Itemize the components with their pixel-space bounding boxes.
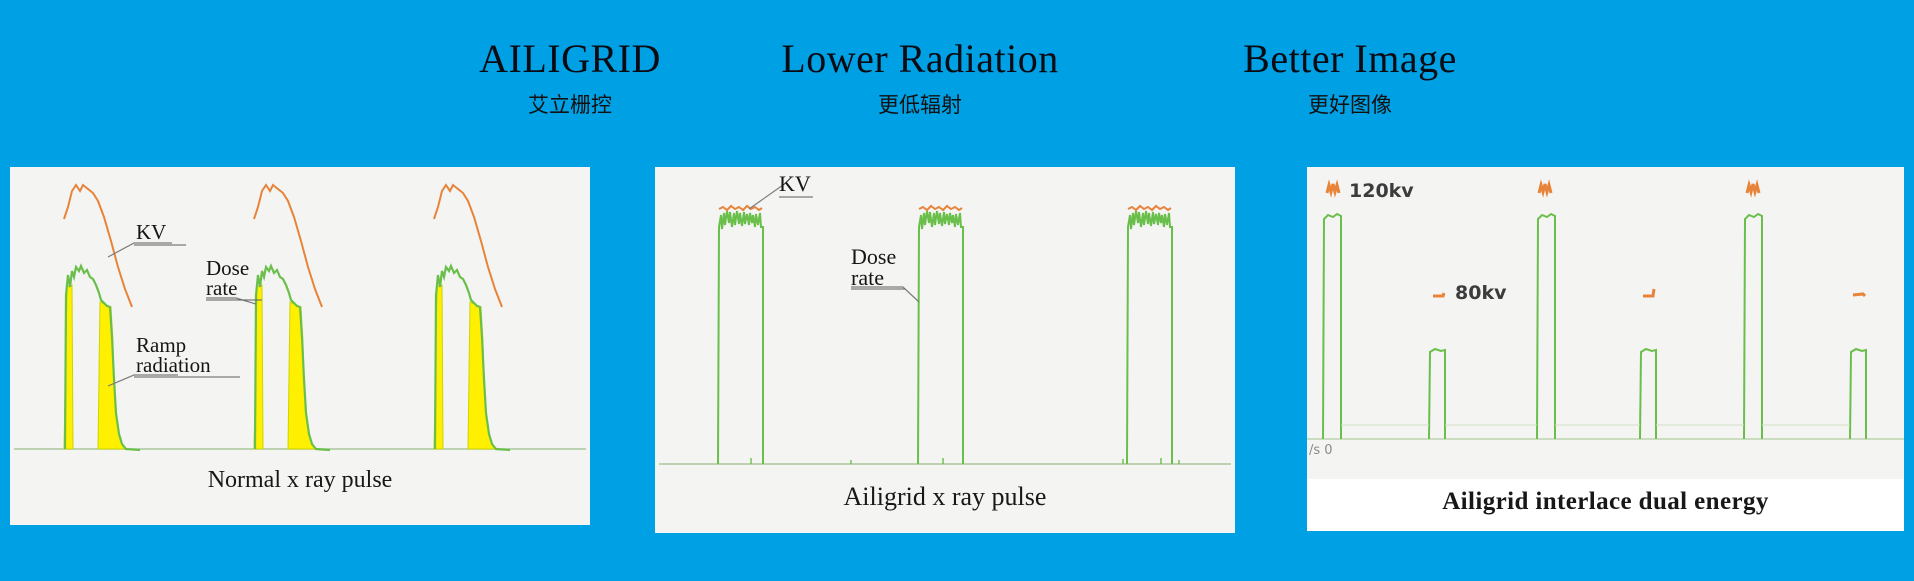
dose-rate-pulse-120kv: [1537, 214, 1555, 439]
axis-zero-label: /s 0: [1309, 443, 1333, 458]
dose-rate-pulse-120kv: [1323, 214, 1341, 439]
legend-label-80kv: 80kv: [1455, 282, 1506, 304]
header-title-en: Better Image: [1070, 36, 1630, 82]
dose-rate-pulse-120kv: [1744, 214, 1762, 439]
annotation-kv: KV: [108, 220, 186, 257]
kv-marker-high-icon: [1747, 184, 1759, 193]
chart-panel-normal-x-ray-pulse: KV Dose rate Ramp radiation Normal x ray…: [10, 167, 590, 525]
chart-panel-interlace-dual-energy: 120kv 80kv /s 0 Ailigrid interlace dual …: [1307, 167, 1904, 531]
annotation-kv: KV: [749, 171, 813, 209]
baseline-ticks: [751, 458, 1179, 464]
kv-trace: [919, 206, 962, 210]
dose-rate-pulse-80kv: [1429, 349, 1445, 439]
kv-trace: [1128, 206, 1171, 210]
header-title-cn: 更好图像: [1070, 90, 1630, 120]
panel-caption-ailigrid: Ailigrid x ray pulse: [655, 482, 1235, 512]
kv-marker-low-icon: [1433, 293, 1444, 296]
chart-panel-ailigrid-x-ray-pulse: KV Dose rate Ailigrid x ray pulse: [655, 167, 1235, 533]
dose-rate-trace: [1127, 211, 1172, 464]
annotation-ramp-radiation: Ramp radiation: [108, 333, 240, 386]
header-block-better-image: Better Image 更好图像: [1070, 36, 1630, 120]
dual-energy-plot: [1307, 167, 1904, 479]
dose-rate-pulse-80kv: [1640, 349, 1656, 439]
annotation-label-dose-line2: rate: [206, 276, 237, 300]
annotation-label-kv: KV: [136, 220, 166, 244]
pulse-group-1: [718, 206, 763, 464]
annotation-dose-rate: Dose rate: [206, 256, 262, 304]
panel-caption-normal: Normal x ray pulse: [10, 467, 590, 494]
kv-marker-high-icon: [1539, 184, 1551, 193]
header-banner: AILIGRID 艾立栅控 Lower Radiation 更低辐射 Bette…: [0, 0, 1914, 160]
pulse-group-2: [254, 185, 330, 450]
annotation-leader-line: [749, 185, 783, 209]
annotation-dose-rate: Dose rate: [851, 244, 919, 302]
pulse-group-3: [434, 185, 510, 450]
ailigrid-pulse-plot: KV Dose rate: [655, 167, 1235, 482]
kv-marker-low-icon: [1853, 294, 1865, 296]
kv-trace: [719, 206, 762, 210]
dose-rate-pulse-80kv: [1850, 349, 1866, 439]
pulse-120kv-group: [1323, 214, 1762, 439]
legend-label-120kv: 120kv: [1349, 180, 1414, 202]
annotation-label-dose-line2: rate: [851, 265, 884, 290]
panel-caption-dual-energy: Ailigrid interlace dual energy: [1307, 479, 1904, 531]
kv-marker-high-icon: [1327, 184, 1339, 193]
normal-pulse-plot: KV Dose rate Ramp radiation: [10, 167, 590, 467]
pulse-group-3: [1127, 206, 1172, 464]
kv-marker-low-icon: [1643, 289, 1654, 296]
annotation-label-kv: KV: [779, 171, 811, 196]
dose-rate-trace: [718, 211, 763, 464]
pulse-group-1: [64, 185, 140, 450]
dose-rate-trace: [918, 211, 963, 464]
pulse-group-2: [918, 206, 963, 464]
annotation-label-ramp-line2: radiation: [136, 353, 211, 377]
